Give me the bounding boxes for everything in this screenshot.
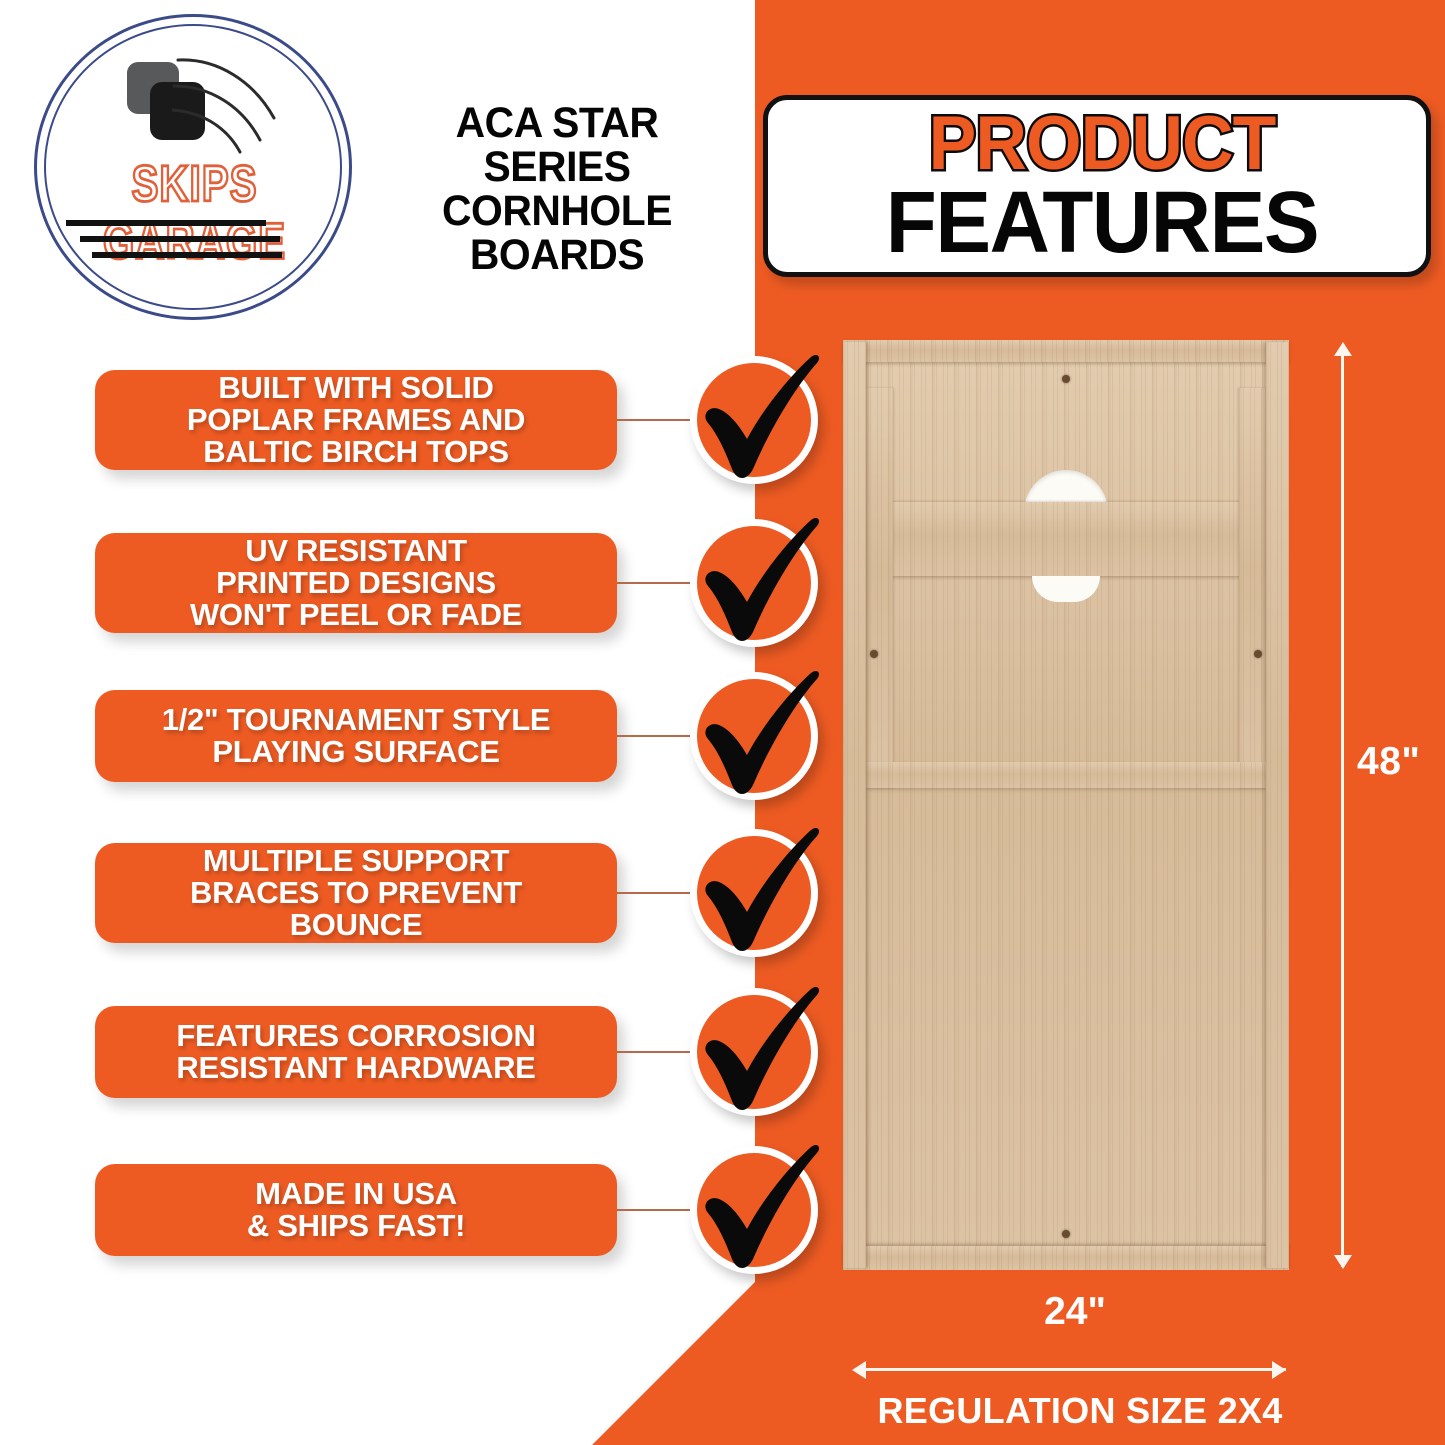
board-rail-top xyxy=(843,340,1289,362)
feature-pill: FEATURES CORROSION RESISTANT HARDWARE xyxy=(95,1006,617,1098)
feature-pill: MULTIPLE SUPPORT BRACES TO PREVENT BOUNC… xyxy=(95,843,617,943)
height-dimension-line xyxy=(1341,352,1344,1267)
board-rail-right xyxy=(1266,342,1289,1268)
height-arrow-bottom-icon xyxy=(1334,1255,1352,1269)
board-stile-right xyxy=(1239,388,1266,788)
infographic-page: SKIPS GARAGE ACA STAR SERIES CORNHOLE BO… xyxy=(0,0,1445,1445)
header-line-product: PRODUCT xyxy=(788,106,1416,182)
screw-icon xyxy=(1254,650,1262,658)
feature-check-badge xyxy=(690,672,818,800)
feature-check-badge xyxy=(690,356,818,484)
feature-check-badge xyxy=(690,519,818,647)
feature-pill: 1/2" TOURNAMENT STYLE PLAYING SURFACE xyxy=(95,690,617,782)
width-arrow-left-icon xyxy=(852,1361,866,1379)
width-dimension-line xyxy=(864,1368,1286,1371)
logo-underline-1 xyxy=(66,220,266,226)
product-features-header: PRODUCT FEATURES xyxy=(763,95,1431,277)
cornhole-board-image xyxy=(843,340,1289,1270)
board-stile-left xyxy=(866,388,893,788)
height-dimension-label: 48" xyxy=(1357,740,1420,784)
support-brace-upper xyxy=(866,502,1266,576)
width-arrow-right-icon xyxy=(1272,1361,1286,1379)
height-arrow-top-icon xyxy=(1334,342,1352,356)
motion-lines-icon xyxy=(172,48,302,158)
feature-pill: BUILT WITH SOLID POPLAR FRAMES AND BALTI… xyxy=(95,370,617,470)
connector-line xyxy=(617,582,690,584)
screw-icon xyxy=(1062,1230,1070,1238)
feature-pill: UV RESISTANT PRINTED DESIGNS WON'T PEEL … xyxy=(95,533,617,633)
width-dimension-label: 24" xyxy=(864,1290,1286,1334)
feature-text: 1/2" TOURNAMENT STYLE PLAYING SURFACE xyxy=(162,704,550,768)
regulation-size-note: REGULATION SIZE 2X4 xyxy=(820,1390,1340,1432)
connector-line xyxy=(617,1209,690,1211)
header-line-features: FEATURES xyxy=(781,179,1422,266)
logo-underline-3 xyxy=(92,252,282,258)
screw-icon xyxy=(1062,375,1070,383)
feature-text: MULTIPLE SUPPORT BRACES TO PREVENT BOUNC… xyxy=(190,845,522,941)
feature-text: FEATURES CORROSION RESISTANT HARDWARE xyxy=(176,1020,535,1084)
board-rail-left xyxy=(843,342,866,1268)
product-title: ACA STAR SERIES CORNHOLE BOARDS xyxy=(400,102,714,277)
brand-logo: SKIPS GARAGE xyxy=(22,8,367,326)
feature-text: BUILT WITH SOLID POPLAR FRAMES AND BALTI… xyxy=(187,372,525,468)
connector-line xyxy=(617,892,690,894)
connector-line xyxy=(617,735,690,737)
logo-underline-2 xyxy=(80,236,280,242)
feature-check-badge xyxy=(690,1146,818,1274)
feature-check-badge xyxy=(690,988,818,1116)
feature-text: MADE IN USA & SHIPS FAST! xyxy=(247,1178,465,1242)
connector-line xyxy=(617,419,690,421)
board-frame xyxy=(843,340,1289,1270)
board-rail-bottom xyxy=(843,1246,1289,1270)
support-brace-lower xyxy=(866,762,1266,788)
connector-line xyxy=(617,1051,690,1053)
screw-icon xyxy=(870,650,878,658)
feature-pill: MADE IN USA & SHIPS FAST! xyxy=(95,1164,617,1256)
feature-text: UV RESISTANT PRINTED DESIGNS WON'T PEEL … xyxy=(190,535,522,631)
feature-check-badge xyxy=(690,829,818,957)
